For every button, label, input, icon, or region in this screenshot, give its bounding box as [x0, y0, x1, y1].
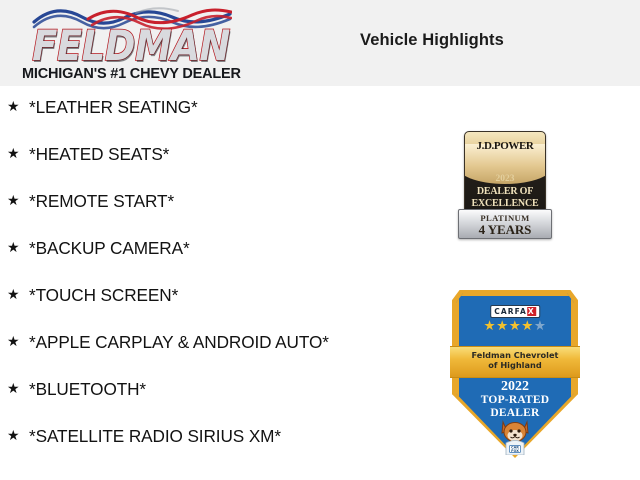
carfox-mascot-icon: CAR FOX [496, 417, 534, 455]
star-bullet-icon: ★ [7, 146, 20, 160]
list-item: ★ *TOUCH SCREEN* [0, 276, 350, 323]
svg-text:FOX: FOX [511, 449, 519, 453]
jdpower-plaque: J.D.POWER 2023 DEALER OF EXCELLENCE [464, 131, 546, 221]
list-item: ★ *SATELLITE RADIO SIRIUS XM* [0, 417, 350, 464]
carfax-wordmark-main: CARFA [494, 307, 527, 316]
logo-tagline: MICHIGAN'S #1 CHEVY DEALER [22, 66, 240, 82]
star-icon: ★ [509, 318, 522, 333]
star-bullet-icon: ★ [7, 287, 20, 301]
jdpower-ribbon: PLATINUM 4 YEARS [458, 209, 552, 239]
list-item: ★ *LEATHER SEATING* [0, 88, 350, 135]
star-icon: ★ [496, 318, 509, 333]
list-item-label: *BLUETOOTH* [29, 370, 146, 400]
star-bullet-icon: ★ [7, 193, 20, 207]
jdpower-year-text: 2023 [465, 174, 545, 184]
list-item-label: *LEATHER SEATING* [29, 88, 198, 118]
jdpower-award-line1: DEALER OF [465, 186, 545, 198]
star-bullet-icon: ★ [7, 381, 20, 395]
dealer-logo: FELDMAN MICHIGAN'S #1 CHEVY DEALER [22, 6, 240, 82]
jdpower-award-line2: EXCELLENCE [465, 198, 545, 210]
carfax-top-rated-dealer-badge: CARFAX ★★★★★ Feldman Chevrolet of Highla… [452, 293, 578, 457]
logo-wordmark-text: FELDMAN [22, 24, 240, 69]
list-item: ★ *BLUETOOTH* [0, 370, 350, 417]
star-bullet-icon: ★ [7, 99, 20, 113]
list-item-label: *TOUCH SCREEN* [29, 276, 178, 306]
star-icon: ★ [534, 318, 547, 333]
carfax-wordmark-accent: X [527, 307, 536, 316]
carfax-dealer-line2: of Highland [452, 360, 578, 370]
page-title: Vehicle Highlights [360, 31, 504, 50]
list-item-label: *APPLE CARPLAY & ANDROID AUTO* [29, 323, 329, 353]
logo-wordmark: FELDMAN [22, 24, 240, 64]
list-item-label: *SATELLITE RADIO SIRIUS XM* [29, 417, 281, 447]
list-item: ★ *APPLE CARPLAY & ANDROID AUTO* [0, 323, 350, 370]
list-item: ★ *BACKUP CAMERA* [0, 229, 350, 276]
list-item: ★ *HEATED SEATS* [0, 135, 350, 182]
vehicle-highlights-list: ★ *LEATHER SEATING* ★ *HEATED SEATS* ★ *… [0, 88, 350, 464]
list-item: ★ *REMOTE START* [0, 182, 350, 229]
list-item-label: *REMOTE START* [29, 182, 174, 212]
jdpower-award-badge: J.D.POWER 2023 DEALER OF EXCELLENCE PLAT… [458, 131, 550, 237]
list-item-label: *HEATED SEATS* [29, 135, 169, 165]
star-icon: ★ [521, 318, 534, 333]
carfax-year-text: 2022 [452, 379, 578, 395]
carfax-dealer-name: Feldman Chevrolet of Highland [452, 350, 578, 370]
jdpower-duration-text: 4 YEARS [459, 222, 551, 238]
star-icon: ★ [483, 318, 496, 333]
carfax-rank-line1: TOP-RATED [452, 394, 578, 407]
jdpower-brand-text: J.D.POWER [465, 140, 545, 152]
carfax-wordmark: CARFAX [490, 305, 540, 318]
star-bullet-icon: ★ [7, 428, 20, 442]
list-item-label: *BACKUP CAMERA* [29, 229, 190, 259]
jdpower-award-text: DEALER OF EXCELLENCE [465, 186, 545, 209]
star-bullet-icon: ★ [7, 240, 20, 254]
star-bullet-icon: ★ [7, 334, 20, 348]
carfax-star-rating: ★★★★★ [452, 319, 578, 333]
carfax-dealer-line1: Feldman Chevrolet [452, 350, 578, 360]
